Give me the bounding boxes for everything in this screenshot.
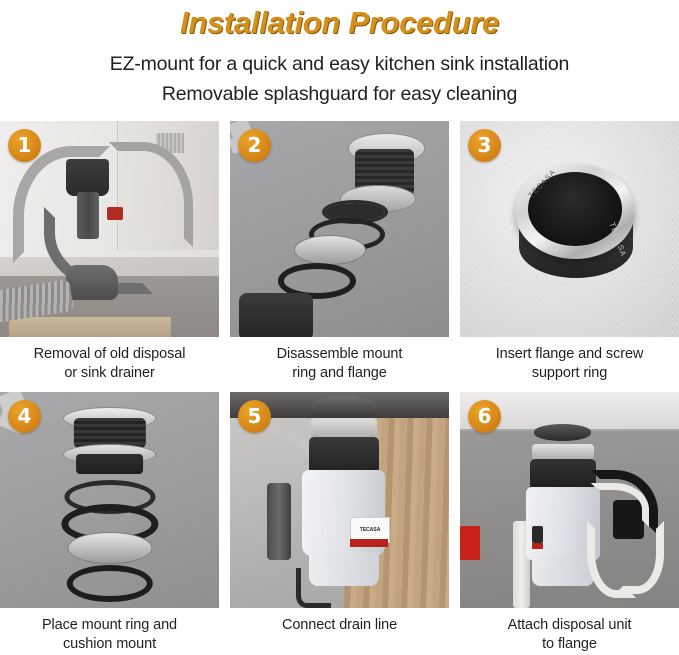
caption-line: Connect drain line [234,616,445,635]
steps-grid: 1 Removal of old disposal or sink draine… [0,121,679,655]
drain-elbow [66,265,119,300]
caption-line: support ring [464,364,675,383]
step-photo-1: 1 [0,121,219,337]
subtitle-block: EZ-mount for a quick and easy kitchen si… [0,49,679,109]
step-badge-3: 3 [468,129,501,162]
step-card-3: TECASA TECASA 3 Insert flange and screw … [460,121,679,383]
cushion-mount [66,565,152,603]
red-clamp [107,207,122,220]
step-caption-2: Disassemble mount ring and flange [230,337,449,383]
disposal-neck [309,437,379,474]
p-trap-right [615,521,664,593]
step-badge-2: 2 [238,129,271,162]
caption-line: Attach disposal unit [464,616,675,635]
mount-ring [294,235,366,265]
drain-pipe [267,483,291,561]
label-red-stripe [350,539,387,548]
caption-line: or sink drainer [4,364,215,383]
flange-shank [76,454,144,473]
caption-line: ring and flange [234,364,445,383]
step-caption-3: Insert flange and screw support ring [460,337,679,383]
caption-line: to flange [464,635,675,654]
step-photo-2: 2 [230,121,449,337]
step-badge-4: 4 [8,400,41,433]
page-title: Installation Procedure [0,6,679,40]
caption-line: Removal of old disposal [4,345,215,364]
step-caption-4: Place mount ring and cushion mount [0,608,219,654]
step-card-6: 6 Attach disposal unit to flange [460,392,679,654]
step-card-2: 2 Disassemble mount ring and flange [230,121,449,383]
step-card-5: TECASA 5 Connect drain line [230,392,449,654]
caption-line: Disassemble mount [234,345,445,364]
step-caption-1: Removal of old disposal or sink drainer [0,337,219,383]
step-card-4: 4 Place mount ring and cushion mount [0,392,219,654]
step-caption-6: Attach disposal unit to flange [460,608,679,654]
floor-board [9,317,171,336]
header: Installation Procedure EZ-mount for a qu… [0,6,679,110]
subtitle-line-2: Removable splashguard for easy cleaning [0,79,679,109]
step-badge-1: 1 [8,129,41,162]
step-photo-3: TECASA TECASA 3 [460,121,679,337]
spray-bottle [460,526,480,561]
caption-line: cushion mount [4,635,215,654]
caption-line: Place mount ring and [4,616,215,635]
mount-ring [67,532,152,564]
caption-line: Insert flange and screw [464,345,675,364]
step-photo-4: 4 [0,392,219,608]
step-badge-5: 5 [238,400,271,433]
reset-switch-stripe [532,543,543,549]
step-photo-6: 6 [460,392,679,608]
reset-switch [532,526,543,543]
disposal-base [532,556,593,586]
subtitle-line-1: EZ-mount for a quick and easy kitchen si… [0,49,679,79]
sink-flange-top [534,424,591,441]
step-badge-6: 6 [468,400,501,433]
disposal-collar [239,293,313,336]
step-photo-5: TECASA 5 [230,392,449,608]
step-card-1: 1 Removal of old disposal or sink draine… [0,121,219,383]
power-cord [296,568,332,608]
step-caption-5: Connect drain line [230,608,449,635]
